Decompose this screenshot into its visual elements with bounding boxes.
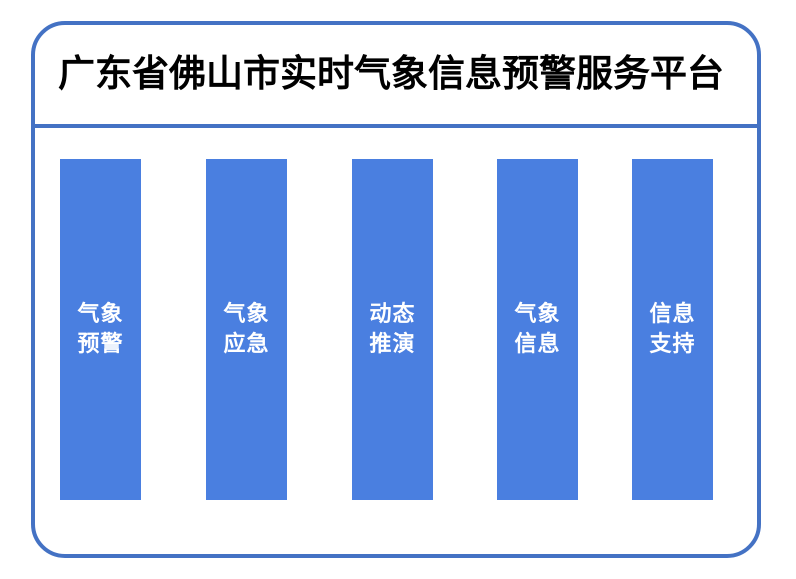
- pillars-container: 气象 预警 气象 应急 动态 推演 气象 信息 信息 支持: [35, 128, 757, 558]
- platform-title-band: 广东省佛山市实时气象信息预警服务平台: [35, 25, 757, 124]
- pillar-dynamic-deduction[interactable]: 动态 推演: [352, 159, 433, 500]
- pillar-meteorological-information[interactable]: 气象 信息: [497, 159, 578, 500]
- diagram-canvas: 广东省佛山市实时气象信息预警服务平台 气象 预警 气象 应急 动态 推演 气象 …: [0, 0, 796, 579]
- pillar-label: 气象 应急: [223, 300, 269, 358]
- pillar-label: 气象 预警: [77, 300, 123, 358]
- pillar-meteorological-emergency[interactable]: 气象 应急: [206, 159, 287, 500]
- pillar-label: 气象 信息: [514, 300, 560, 358]
- page-title: 广东省佛山市实时气象信息预警服务平台: [58, 54, 724, 95]
- pillar-information-support[interactable]: 信息 支持: [632, 159, 713, 500]
- pillar-meteorological-warning[interactable]: 气象 预警: [60, 159, 141, 500]
- pillar-label: 信息 支持: [649, 300, 695, 358]
- platform-frame: 广东省佛山市实时气象信息预警服务平台 气象 预警 气象 应急 动态 推演 气象 …: [31, 21, 761, 558]
- pillar-label: 动态 推演: [369, 300, 415, 358]
